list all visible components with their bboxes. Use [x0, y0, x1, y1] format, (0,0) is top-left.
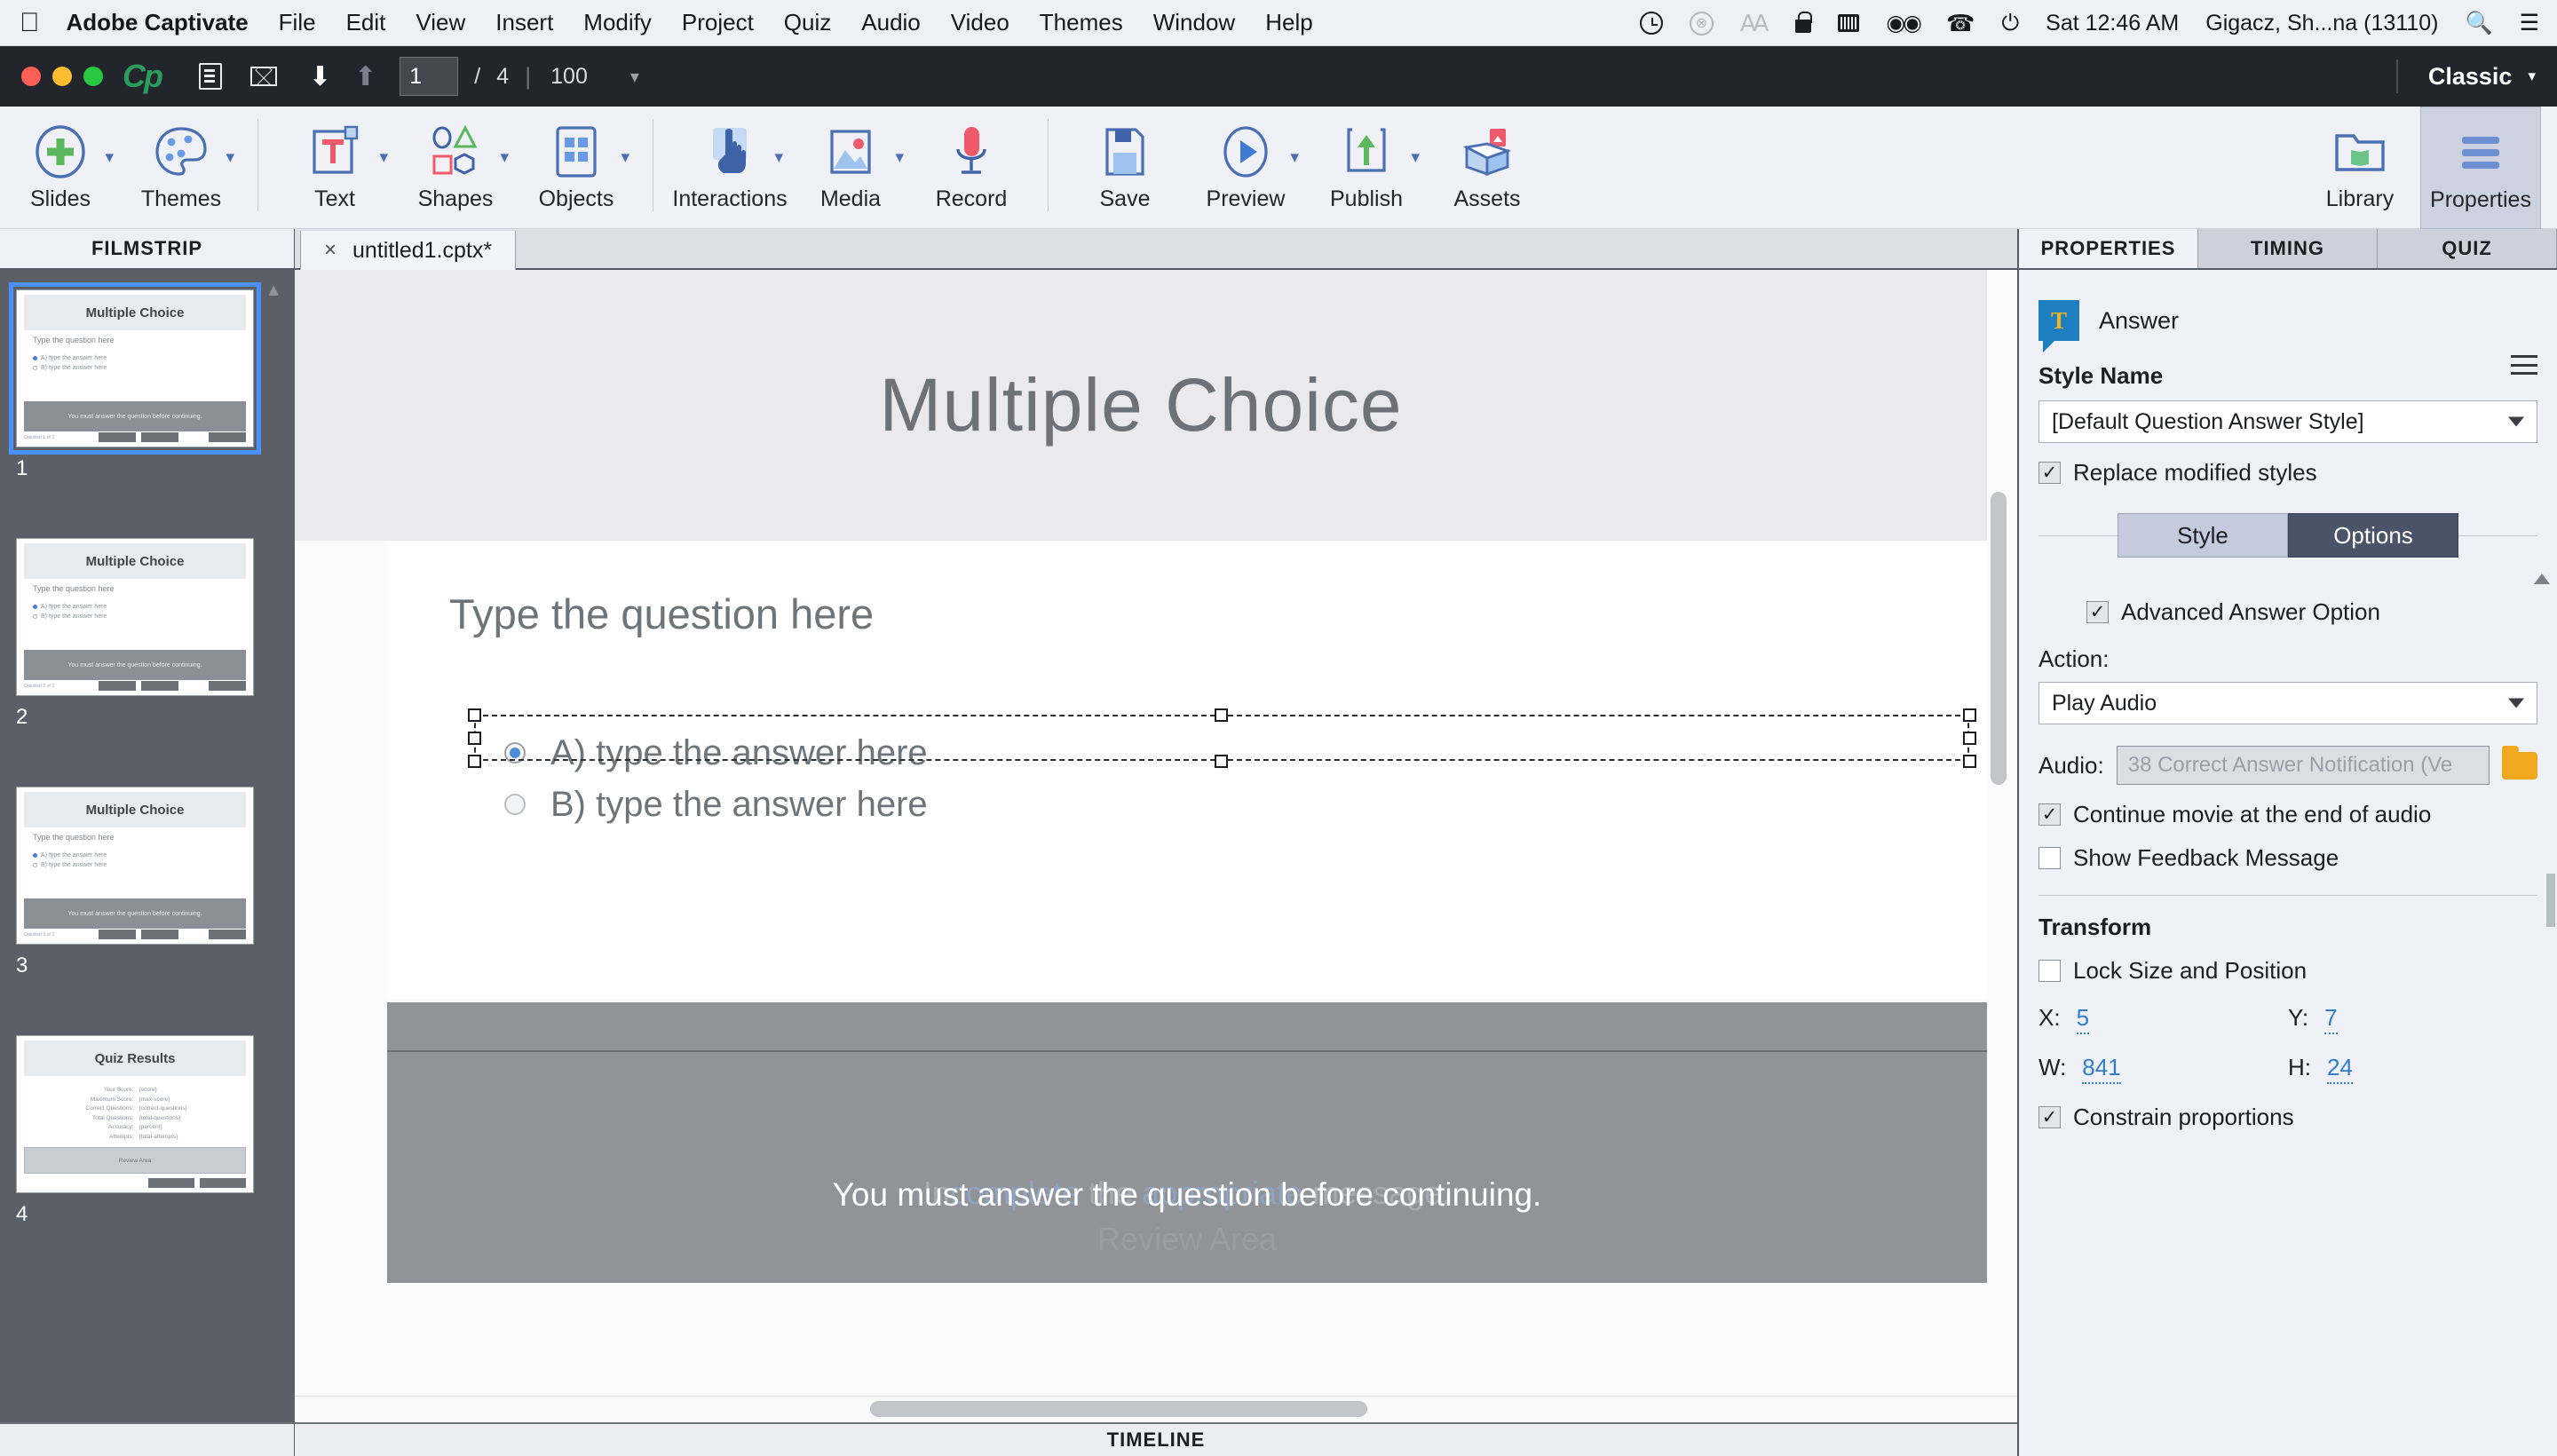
- x-value[interactable]: 5: [2077, 1004, 2089, 1034]
- menu-help[interactable]: Help: [1265, 9, 1312, 36]
- media-image-icon: [827, 121, 874, 183]
- chevron-down-icon[interactable]: ▾: [2528, 67, 2536, 85]
- toolbar-divider: |: [525, 63, 531, 91]
- thumb-option: B) type the answer here: [33, 613, 237, 620]
- slide-thumbnail[interactable]: Multiple Choice Type the question here A…: [16, 289, 254, 447]
- thumb-footer: Question 3 of 3: [24, 929, 246, 940]
- toolbar-label-interactions: Interactions: [672, 186, 787, 212]
- tab-properties[interactable]: PROPERTIES: [2019, 229, 2198, 268]
- toolbar-label-publish: Publish: [1330, 186, 1403, 212]
- add-slide-icon: [33, 121, 88, 183]
- thumb-button-continue: [148, 1178, 194, 1188]
- toolbar-button-preview[interactable]: Preview ▾: [1185, 107, 1306, 229]
- toolbar-button-save[interactable]: Save: [1065, 107, 1185, 229]
- toolbar-button-slides[interactable]: Slides ▾: [0, 107, 121, 229]
- action-label: Action:: [2038, 645, 2537, 673]
- thumb-footer-label: Question 3 of 3: [24, 932, 54, 938]
- answer-options-list: A) type the answer here B) type the answ…: [504, 727, 928, 830]
- slide-number-label: 1: [16, 456, 254, 481]
- transform-y: Y: 7: [2288, 1004, 2537, 1034]
- section-divider: [2038, 895, 2537, 896]
- properties-vertical-scrollbar[interactable]: [2546, 874, 2555, 927]
- constrain-proportions-row[interactable]: ✓ Constrain proportions: [2038, 1104, 2537, 1131]
- tab-quiz[interactable]: QUIZ: [2378, 229, 2557, 268]
- thumb-options: A) type the answer here B) type the answ…: [33, 355, 237, 371]
- thumb-question: Type the question here: [33, 833, 237, 842]
- thumb-option-label: A) type the answer here: [41, 604, 107, 610]
- replace-modified-styles-label: Replace modified styles: [2073, 459, 2317, 487]
- menu-file[interactable]: File: [279, 9, 316, 36]
- mail-icon[interactable]: [250, 67, 277, 86]
- advanced-answer-option-checkbox[interactable]: ✓: [2086, 601, 2109, 623]
- toolbar-group-content: Text ▾ Shapes ▾: [274, 107, 637, 229]
- close-window-button[interactable]: [21, 67, 41, 86]
- thumb-options: A) type the answer here B) type the answ…: [33, 604, 237, 620]
- segment-options[interactable]: Options: [2288, 513, 2458, 558]
- chevron-down-icon[interactable]: ▾: [226, 147, 234, 168]
- play-preview-icon: [1220, 121, 1271, 183]
- toolbar-group-output: Save Preview ▾ P: [1065, 107, 1548, 229]
- audio-field-row: Audio: 38 Correct Answer Notification (V…: [2038, 746, 2537, 785]
- window-controls: [21, 67, 103, 86]
- binoculars-icon[interactable]: ◉◉: [1886, 10, 1920, 36]
- objects-grid-icon: [553, 121, 599, 183]
- toolbar-label-save: Save: [1100, 186, 1151, 212]
- h-value[interactable]: 24: [2327, 1054, 2353, 1084]
- resize-handle-s[interactable]: [1215, 755, 1228, 768]
- toolbar-label-preview: Preview: [1207, 186, 1286, 212]
- thumb-button-submit: [209, 930, 246, 939]
- thumb-option-label: B) type the answer here: [41, 862, 107, 868]
- palette-icon: [153, 121, 210, 183]
- zoom-dropdown-icon[interactable]: ▾: [630, 66, 639, 88]
- chevron-down-icon: [2508, 417, 2524, 427]
- filmstrip-footer: [0, 1422, 295, 1456]
- thumb-option: A) type the answer here: [33, 355, 237, 361]
- table-row: Accuracy:{percent}: [33, 1124, 237, 1130]
- toolbar-button-library[interactable]: Library: [2300, 107, 2420, 229]
- thumb-button-back: [99, 432, 136, 442]
- toolbar-separator: [653, 119, 653, 211]
- chevron-down-icon[interactable]: ▾: [105, 147, 114, 168]
- constrain-proportions-label: Constrain proportions: [2073, 1104, 2294, 1131]
- result-label: Maximum Score:: [33, 1096, 139, 1103]
- toolbar-label-slides: Slides: [30, 186, 91, 212]
- thumb-feedback: You must answer the question before cont…: [24, 898, 246, 929]
- result-label: Total Questions:: [33, 1115, 139, 1121]
- maximize-window-button[interactable]: [83, 67, 103, 86]
- menu-window[interactable]: Window: [1153, 9, 1235, 36]
- slide-number-label: 3: [16, 954, 254, 978]
- captivate-window:  Adobe Captivate File Edit View Insert …: [0, 0, 2557, 1456]
- transform-xy-row: X: 5 Y: 7: [2038, 1004, 2537, 1034]
- publish-upload-icon: [1343, 121, 1389, 183]
- bluetooth-icon[interactable]: Ꜳ: [1740, 10, 1769, 37]
- style-name-value: [Default Question Answer Style]: [2052, 409, 2364, 435]
- show-feedback-checkbox[interactable]: [2038, 847, 2061, 869]
- menu-audio[interactable]: Audio: [861, 9, 921, 36]
- review-area-text: Review Area: [387, 1221, 1987, 1258]
- workspace-switcher: Classic ▾: [2396, 46, 2536, 107]
- filmstrip-slide-1[interactable]: Multiple Choice Type the question here A…: [16, 289, 254, 481]
- transform-x: X: 5: [2038, 1004, 2288, 1034]
- wifi-icon[interactable]: ☎: [1946, 10, 1975, 37]
- resize-handle-n[interactable]: [1215, 708, 1228, 722]
- panel-scroll-up-icon[interactable]: [2534, 574, 2550, 584]
- thumb-footer: [24, 1177, 246, 1189]
- radio-icon: [33, 853, 37, 858]
- show-feedback-label: Show Feedback Message: [2073, 844, 2339, 872]
- properties-body: T Answer Style Name [Default Question An…: [2019, 270, 2557, 1131]
- hand-pointer-icon: [704, 121, 756, 183]
- toolbar-button-media[interactable]: Media ▾: [790, 107, 911, 229]
- segment-style[interactable]: Style: [2118, 513, 2288, 558]
- control-center-icon[interactable]: ☰: [2520, 10, 2539, 36]
- microphone-icon: [948, 121, 994, 183]
- table-row: Total Questions:{total-questions}: [33, 1115, 237, 1121]
- chevron-down-icon[interactable]: ▾: [1411, 147, 1420, 168]
- style-name-label: Style Name: [2038, 362, 2537, 390]
- library-folder-icon: [2332, 121, 2387, 183]
- toolbar-label-record: Record: [936, 186, 1008, 212]
- constrain-proportions-checkbox[interactable]: ✓: [2038, 1106, 2061, 1128]
- feedback-message-text[interactable]: You must answer the question before cont…: [387, 1176, 1987, 1214]
- thumb-option-label: B) type the answer here: [41, 365, 107, 371]
- h-label: H:: [2288, 1054, 2311, 1081]
- result-label: Accuracy:: [33, 1124, 139, 1130]
- transform-h: H: 24: [2288, 1054, 2537, 1084]
- filmstrip-slide-4[interactable]: Quiz Results Your Score:{score} Maximum …: [16, 1035, 254, 1227]
- assets-box-icon: [1460, 121, 1515, 183]
- menu-edit[interactable]: Edit: [346, 9, 386, 36]
- thumb-options: A) type the answer here B) type the answ…: [33, 852, 237, 868]
- thumb-button-skip: [141, 930, 178, 939]
- result-label: Attempts:: [33, 1134, 139, 1140]
- shapes-icon: [428, 121, 483, 183]
- thumb-footer: Question 2 of 3: [24, 680, 246, 692]
- search-icon[interactable]: 🔍: [2465, 11, 2492, 36]
- chevron-down-icon[interactable]: ▾: [895, 147, 904, 168]
- slide-thumbnail[interactable]: Quiz Results Your Score:{score} Maximum …: [16, 1035, 254, 1193]
- advanced-answer-option-row[interactable]: ✓ Advanced Answer Option: [2086, 598, 2537, 626]
- radio-button-b[interactable]: [504, 794, 526, 815]
- y-value[interactable]: 7: [2324, 1004, 2337, 1034]
- show-feedback-row[interactable]: Show Feedback Message: [2038, 844, 2537, 872]
- toolbar-label-properties: Properties: [2430, 187, 2531, 213]
- chevron-down-icon[interactable]: ▾: [621, 147, 629, 168]
- replace-modified-styles-row[interactable]: ✓ Replace modified styles: [2038, 459, 2537, 487]
- filmstrip-panel[interactable]: ▲ Multiple Choice Type the question here…: [0, 270, 295, 1456]
- timeline-panel-header[interactable]: TIMELINE: [295, 1422, 2017, 1456]
- toolbar-button-shapes[interactable]: Shapes ▾: [395, 107, 516, 229]
- replace-modified-styles-checkbox[interactable]: ✓: [2038, 462, 2061, 484]
- save-disk-icon: [1102, 121, 1148, 183]
- captivate-logo: Cp: [123, 58, 162, 95]
- chevron-down-icon[interactable]: ▾: [379, 147, 388, 168]
- thumb-title: Multiple Choice: [24, 543, 246, 579]
- x-label: X:: [2038, 1004, 2061, 1032]
- thumb-body: Type the question here A) type the answe…: [24, 330, 246, 401]
- style-name-dropdown[interactable]: [Default Question Answer Style]: [2038, 400, 2537, 443]
- w-label: W:: [2038, 1054, 2066, 1081]
- menu-user-account[interactable]: Gigacz, Sh...na (13110): [2205, 11, 2438, 36]
- resize-handle-w[interactable]: [468, 732, 481, 745]
- slide-separator: /: [474, 64, 480, 90]
- thumb-option: A) type the answer here: [33, 852, 237, 859]
- menu-view[interactable]: View: [416, 9, 465, 36]
- thumb-footer-label: Question 2 of 3: [24, 684, 54, 689]
- filmstrip-header: FILMSTRIP: [0, 229, 295, 270]
- toolbar-button-themes[interactable]: Themes ▾: [121, 107, 241, 229]
- menu-clock: Sat 12:46 AM: [2046, 11, 2179, 36]
- previous-slide-icon[interactable]: ⬆: [354, 61, 376, 92]
- slide-content-area: Type the question here A) type the answe…: [387, 541, 1987, 999]
- radio-icon: [33, 863, 37, 867]
- workspace-label[interactable]: Classic: [2428, 63, 2513, 91]
- transform-wh-row: W: 841 H: 24: [2038, 1054, 2537, 1084]
- menu-insert[interactable]: Insert: [495, 9, 553, 36]
- window-title-bar: Cp ⬇ ⬆ 1 / 4 | 100 ▾ Classic ▾: [0, 46, 2557, 107]
- slide-properties-icon[interactable]: [199, 63, 222, 90]
- toolbar-button-objects[interactable]: Objects ▾: [516, 107, 637, 229]
- style-options-segment-control: Style Options: [2038, 513, 2537, 558]
- w-value[interactable]: 841: [2082, 1054, 2120, 1084]
- menu-quiz[interactable]: Quiz: [784, 9, 831, 36]
- lock-size-position-label: Lock Size and Position: [2073, 957, 2307, 985]
- chevron-down-icon[interactable]: ▾: [774, 147, 783, 168]
- thumb-button-submit: [209, 432, 246, 442]
- thumb-option-label: A) type the answer here: [41, 852, 107, 859]
- text-answer-icon: T: [2038, 300, 2079, 341]
- result-value: {max-score}: [139, 1096, 237, 1103]
- transform-w: W: 841: [2038, 1054, 2288, 1084]
- document-tab-label: untitled1.cptx*: [352, 238, 492, 264]
- toolbar-label-themes: Themes: [141, 186, 221, 212]
- result-label: Your Score:: [33, 1087, 139, 1093]
- lock-icon[interactable]: [1795, 13, 1811, 33]
- thumb-body: Type the question here A) type the answe…: [24, 827, 246, 898]
- toolbar-group-slides: Slides ▾ Themes ▾: [0, 107, 241, 229]
- canvas-horizontal-scrollbar[interactable]: [870, 1401, 1367, 1417]
- result-label: Correct Questions:: [33, 1105, 139, 1112]
- thumb-button-skip: [141, 681, 178, 691]
- thumb-option: B) type the answer here: [33, 365, 237, 371]
- thumb-review-area: Review Area: [24, 1147, 246, 1174]
- clock-icon[interactable]: [1640, 12, 1663, 35]
- thumb-body: Your Score:{score} Maximum Score:{max-sc…: [24, 1076, 246, 1145]
- chevron-down-icon[interactable]: ▾: [500, 147, 509, 168]
- resize-handle-e[interactable]: [1963, 732, 1976, 745]
- main-toolbar: Slides ▾ Themes ▾: [0, 107, 2557, 229]
- radio-icon: [33, 605, 37, 609]
- resize-handle-nw[interactable]: [468, 708, 481, 722]
- macos-menu-bar:  Adobe Captivate File Edit View Insert …: [0, 0, 2557, 46]
- folder-icon[interactable]: [2502, 752, 2537, 779]
- advanced-answer-option-label: Advanced Answer Option: [2121, 598, 2380, 626]
- text-icon: [310, 121, 360, 183]
- result-value: {score}: [139, 1087, 237, 1093]
- thumb-footer: Question 1 of 3: [24, 431, 246, 443]
- properties-panel: PROPERTIES TIMING QUIZ T Answer Style Na…: [2017, 229, 2557, 1456]
- chevron-down-icon[interactable]: ▾: [1290, 147, 1299, 168]
- question-text[interactable]: Type the question here: [449, 590, 874, 638]
- menu-video[interactable]: Video: [951, 9, 1009, 36]
- thumb-option-label: B) type the answer here: [41, 613, 107, 620]
- document-tab-strip: × untitled1.cptx*: [295, 229, 2017, 270]
- thumb-option: A) type the answer here: [33, 604, 237, 610]
- thumb-question: Type the question here: [33, 584, 237, 593]
- thumb-title: Multiple Choice: [24, 792, 246, 827]
- chevron-down-icon: [2508, 699, 2524, 708]
- result-value: {total-questions}: [139, 1115, 237, 1121]
- style-menu-icon[interactable]: [2511, 355, 2537, 375]
- table-row: Correct Questions:{correct-questions}: [33, 1105, 237, 1112]
- thumb-feedback: You must answer the question before cont…: [24, 650, 246, 680]
- answer-label-a[interactable]: A) type the answer here: [550, 733, 928, 773]
- radio-button-a[interactable]: [504, 742, 526, 764]
- radio-icon: [33, 356, 37, 360]
- toolbar-button-text[interactable]: Text ▾: [274, 107, 395, 229]
- answer-option-b[interactable]: B) type the answer here: [504, 779, 928, 830]
- slide-feedback-area[interactable]: Incomplete the appropriate message. You …: [387, 1052, 1987, 1283]
- radio-icon: [33, 614, 37, 619]
- slide-thumbnail[interactable]: Multiple Choice Type the question here A…: [16, 787, 254, 945]
- toolbar-button-assets[interactable]: Assets: [1427, 107, 1548, 229]
- menu-themes[interactable]: Themes: [1040, 9, 1123, 36]
- properties-tab-bar: PROPERTIES TIMING QUIZ: [2019, 229, 2557, 270]
- thumb-option: B) type the answer here: [33, 862, 237, 868]
- tab-timing[interactable]: TIMING: [2198, 229, 2378, 268]
- table-row: Maximum Score:{max-score}: [33, 1096, 237, 1103]
- menu-bar-status-area: ⊗ Ꜳ ◉◉ ☎ ⏻ Sat 12:46 AM Gigacz, Sh...na …: [1640, 0, 2539, 46]
- toolbar-label-assets: Assets: [1453, 186, 1520, 212]
- slide-thumbnail[interactable]: Multiple Choice Type the question here A…: [16, 538, 254, 696]
- continue-movie-row[interactable]: ✓ Continue movie at the end of audio: [2038, 801, 2537, 828]
- thumb-footer-label: Question 1 of 3: [24, 435, 54, 440]
- lock-size-position-checkbox[interactable]: [2038, 960, 2061, 982]
- menu-app-name[interactable]: Adobe Captivate: [67, 9, 249, 36]
- slide-gray-band-top: [387, 1002, 1987, 1052]
- selected-object-header: T Answer: [2038, 300, 2537, 341]
- thumb-body: Type the question here A) type the answe…: [24, 579, 246, 650]
- document-tab[interactable]: × untitled1.cptx*: [300, 231, 516, 270]
- slide-header-band: Multiple Choice: [295, 270, 1987, 541]
- toolbar-label-media: Media: [820, 186, 881, 212]
- thumb-title: Multiple Choice: [24, 295, 246, 330]
- thumb-results-table: Your Score:{score} Maximum Score:{max-sc…: [33, 1081, 237, 1140]
- properties-lines-icon: [2455, 122, 2506, 184]
- radio-icon: [33, 366, 37, 370]
- action-value: Play Audio: [2052, 691, 2157, 716]
- slide-canvas[interactable]: Multiple Choice Type the question here A…: [295, 270, 2017, 1396]
- menu-modify[interactable]: Modify: [583, 9, 652, 36]
- slide-number-label: 4: [16, 1202, 254, 1227]
- toolbar-button-record[interactable]: Record: [911, 107, 1032, 229]
- battery-charging-icon[interactable]: ⏻: [2001, 11, 2019, 36]
- canvas-vertical-scrollbar[interactable]: [1991, 492, 2007, 785]
- continue-movie-label: Continue movie at the end of audio: [2073, 801, 2431, 828]
- selected-object-name: Answer: [2099, 307, 2179, 335]
- slide-number-input[interactable]: 1: [400, 57, 458, 96]
- y-label: Y:: [2288, 1004, 2308, 1032]
- thumb-title: Quiz Results: [24, 1041, 246, 1076]
- filmstrip-slide-3[interactable]: Multiple Choice Type the question here A…: [16, 787, 254, 978]
- radio-dot-icon: [510, 748, 520, 758]
- toolbar-label-library: Library: [2326, 186, 2394, 212]
- transform-section-title: Transform: [2038, 914, 2537, 941]
- action-dropdown[interactable]: Play Audio: [2038, 682, 2537, 724]
- thumb-question: Type the question here: [33, 336, 237, 344]
- toolbar-label-objects: Objects: [539, 186, 614, 212]
- result-value: {percent}: [139, 1124, 237, 1130]
- toolbar-label-shapes: Shapes: [418, 186, 494, 212]
- creative-cloud-icon[interactable]: ⊗: [1690, 12, 1714, 36]
- next-slide-icon[interactable]: ⬇: [309, 61, 331, 92]
- toolbar-separator: [257, 119, 258, 211]
- thumb-button-back: [99, 681, 136, 691]
- workspace-divider: [2396, 59, 2398, 93]
- thumb-button-review-quiz: [200, 1178, 246, 1188]
- battery-bars-icon[interactable]: [1838, 14, 1859, 32]
- resize-handle-se[interactable]: [1963, 755, 1976, 768]
- menu-project[interactable]: Project: [682, 9, 754, 36]
- audio-input[interactable]: 38 Correct Answer Notification (Ve: [2117, 746, 2490, 785]
- minimize-window-button[interactable]: [52, 67, 72, 86]
- toolbar-button-properties[interactable]: Properties: [2420, 107, 2541, 229]
- filmstrip-slide-2[interactable]: Multiple Choice Type the question here A…: [16, 538, 254, 730]
- apple-icon[interactable]: : [20, 10, 40, 36]
- thumb-feedback: You must answer the question before cont…: [24, 401, 246, 431]
- audio-label: Audio:: [2038, 752, 2104, 779]
- toolbar-button-interactions[interactable]: Interactions ▾: [669, 107, 790, 229]
- slide-number-label: 2: [16, 705, 254, 730]
- scroll-up-icon[interactable]: ▲: [265, 281, 282, 301]
- toolbar-group-panels: Library Properties: [2300, 107, 2541, 229]
- result-value: {correct-questions}: [139, 1105, 237, 1112]
- answer-label-b[interactable]: B) type the answer here: [550, 785, 928, 825]
- result-value: {total-attempts}: [139, 1134, 237, 1140]
- toolbar-button-publish[interactable]: Publish ▾: [1306, 107, 1427, 229]
- toolbar-label-text: Text: [314, 186, 355, 212]
- thumb-option-label: A) type the answer here: [41, 355, 107, 361]
- close-icon[interactable]: ×: [324, 238, 336, 263]
- toolbar-group-media: Interactions ▾ Media ▾: [669, 107, 1032, 229]
- table-row: Your Score:{score}: [33, 1087, 237, 1093]
- resize-handle-sw[interactable]: [468, 755, 481, 768]
- lock-size-position-row[interactable]: Lock Size and Position: [2038, 957, 2537, 985]
- slide-title-text[interactable]: Multiple Choice: [879, 362, 1402, 448]
- table-row: Attempts:{total-attempts}: [33, 1134, 237, 1140]
- thumb-button-submit: [209, 681, 246, 691]
- thumb-button-back: [99, 930, 136, 939]
- slide-total-count: 4: [496, 64, 509, 90]
- continue-movie-checkbox[interactable]: ✓: [2038, 803, 2061, 826]
- zoom-level[interactable]: 100: [550, 64, 588, 90]
- options-section: ✓ Advanced Answer Option Action: Play Au…: [2038, 574, 2537, 872]
- thumb-button-skip: [141, 432, 178, 442]
- resize-handle-ne[interactable]: [1963, 708, 1976, 722]
- toolbar-separator: [1048, 119, 1049, 211]
- answer-option-a[interactable]: A) type the answer here: [504, 727, 928, 779]
